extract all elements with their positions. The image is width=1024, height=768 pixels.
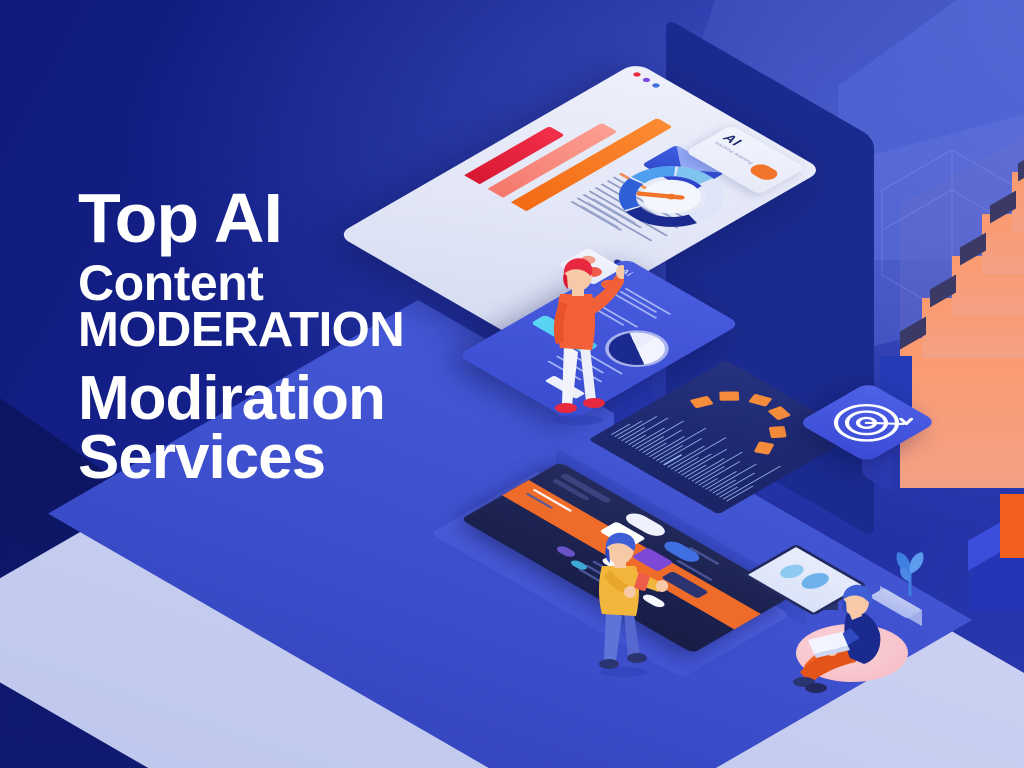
hero-banner: AI machine learning xyxy=(0,0,1024,768)
headline-line-3: MODERATION xyxy=(78,306,548,355)
orange-stairs-group xyxy=(900,120,1024,450)
tablet-pill-d xyxy=(554,545,578,559)
bullet-line-1a xyxy=(624,288,671,315)
headline-line-1: Top AI xyxy=(78,186,548,252)
headline-line-5: Services xyxy=(78,426,548,489)
person-standing-tablet xyxy=(582,532,674,678)
orange-block-right xyxy=(1000,494,1024,558)
ai-card-pill xyxy=(746,162,781,182)
headline-line-4: Modiration xyxy=(78,367,548,430)
person-sitting-laptop xyxy=(786,584,926,694)
headline-block: Top AI Content MODERATION Modiration Ser… xyxy=(78,186,548,489)
headline-line-2: Content xyxy=(78,258,548,308)
